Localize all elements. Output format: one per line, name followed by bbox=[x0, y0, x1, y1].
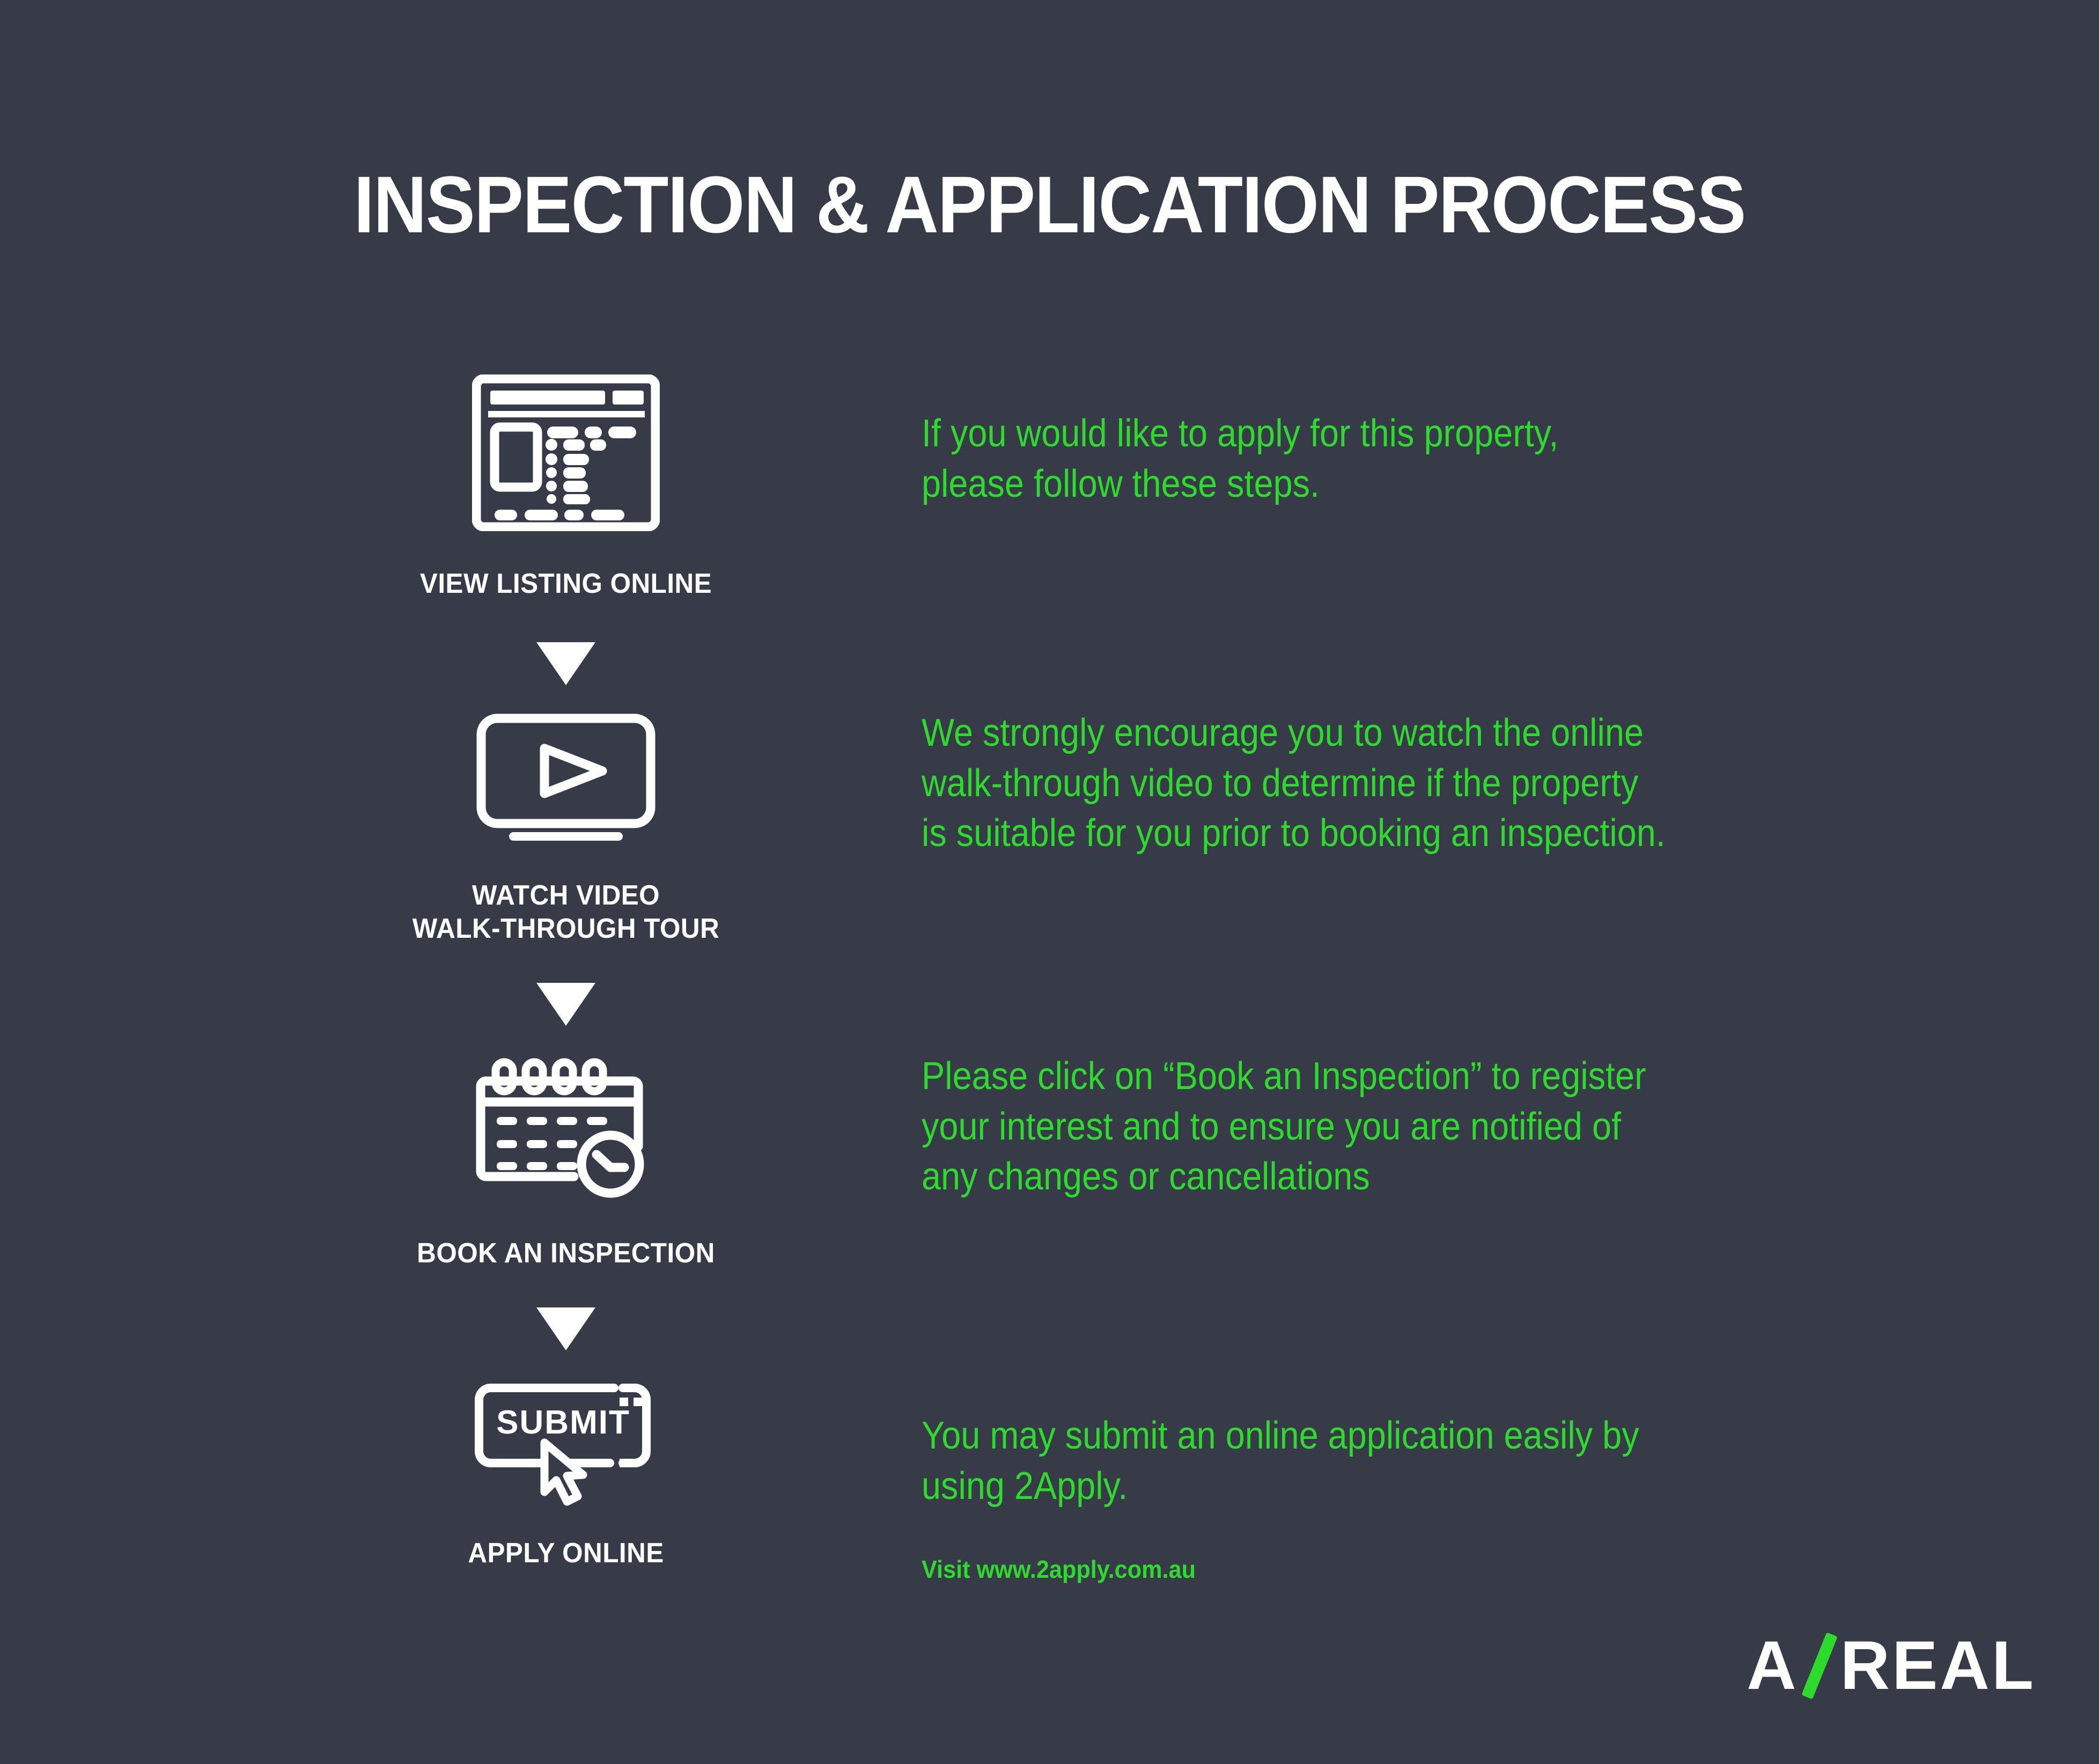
spacer-2b bbox=[327, 1026, 805, 1054]
spacer-1b bbox=[327, 685, 805, 713]
step-watch-video: WATCH VIDEO WALK-THROUGH TOUR bbox=[327, 713, 805, 945]
flow-arrow-2 bbox=[327, 983, 805, 1026]
page-title: INSPECTION & APPLICATION PROCESS bbox=[84, 158, 2015, 251]
spacer-3 bbox=[327, 1270, 805, 1307]
triangle-down-icon bbox=[536, 642, 595, 685]
step-4-description: You may submit an online application eas… bbox=[922, 1411, 1911, 1511]
step-3-label: BOOK AN INSPECTION bbox=[339, 1237, 793, 1270]
submit-button-cursor-icon-wrap: SUBMIT bbox=[327, 1378, 805, 1507]
triangle-down-icon bbox=[536, 983, 595, 1026]
calendar-clock-icon bbox=[472, 1053, 660, 1204]
step-1-description: If you would like to apply for this prop… bbox=[922, 409, 1887, 509]
visit-2apply-link[interactable]: Visit www.2apply.com.au bbox=[922, 1555, 1196, 1584]
logo-slash-icon bbox=[1802, 1631, 1837, 1701]
calendar-clock-icon-wrap bbox=[327, 1054, 805, 1204]
step-view-listing-online: VIEW LISTING ONLINE bbox=[327, 370, 805, 600]
step-apply-online: SUBMIT APPLY ONLINE bbox=[327, 1378, 805, 1570]
step-1-label: VIEW LISTING ONLINE bbox=[339, 568, 793, 600]
video-play-monitor-icon bbox=[476, 713, 656, 847]
step-3-description: Please click on “Book an Inspection” to … bbox=[922, 1052, 1911, 1202]
process-steps-column: VIEW LISTING ONLINE WATCH VIDEO WALK-THR… bbox=[327, 370, 805, 1570]
areal-logo: A REAL bbox=[1747, 1631, 2036, 1701]
poster-canvas: INSPECTION & APPLICATION PROCESS bbox=[0, 0, 2099, 1764]
spacer-3b bbox=[327, 1350, 805, 1378]
submit-button-cursor-icon: SUBMIT bbox=[469, 1378, 662, 1507]
listing-window-icon-wrap bbox=[327, 370, 805, 531]
listing-window-icon bbox=[472, 374, 660, 531]
triangle-down-icon bbox=[536, 1307, 595, 1350]
step-book-inspection: BOOK AN INSPECTION bbox=[327, 1054, 805, 1270]
flow-arrow-1 bbox=[327, 642, 805, 685]
logo-letter-a: A bbox=[1747, 1631, 1798, 1700]
submit-text: SUBMIT bbox=[496, 1404, 630, 1441]
spacer-1 bbox=[327, 600, 805, 642]
step-4-label: APPLY ONLINE bbox=[339, 1537, 793, 1570]
video-play-monitor-icon-wrap bbox=[327, 713, 805, 847]
logo-word-real: REAL bbox=[1840, 1631, 2036, 1700]
step-2-label: WATCH VIDEO WALK-THROUGH TOUR bbox=[339, 879, 793, 945]
step-2-description: We strongly encourage you to watch the o… bbox=[922, 708, 1935, 859]
flow-arrow-3 bbox=[327, 1307, 805, 1350]
spacer-2 bbox=[327, 945, 805, 983]
